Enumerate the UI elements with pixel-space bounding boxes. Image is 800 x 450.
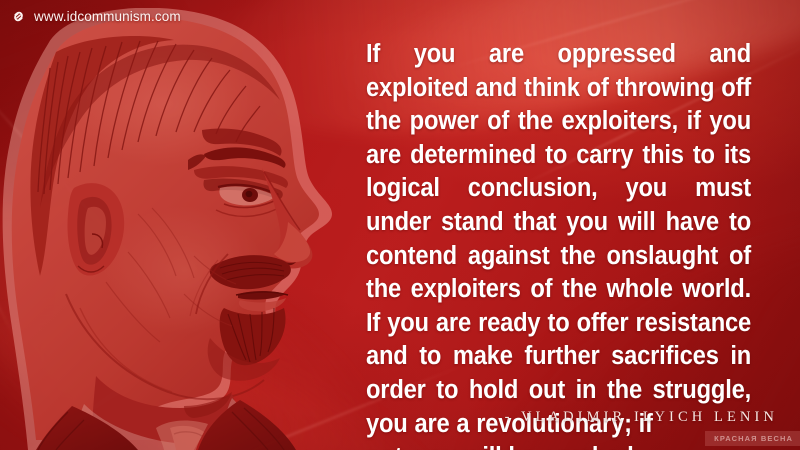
lenin-portrait [0, 8, 388, 450]
quote-last-line: not, you will be crushed [366, 441, 751, 450]
quote-text: If you are oppressed and exploited and t… [366, 38, 751, 450]
quote-attribution: - VLADIMIR ILYICH LENIN [505, 409, 778, 426]
source-url-text: www.idcommunism.com [34, 9, 181, 24]
quote-body: If you are oppressed and exploited and t… [366, 40, 751, 438]
quote-graphic: www.idcommunism.com If you are oppressed… [0, 0, 800, 450]
source-url-bar[interactable]: www.idcommunism.com [11, 9, 181, 24]
watermark: КРАСНАЯ ВЕСНА [705, 431, 800, 446]
link-icon [11, 9, 26, 24]
